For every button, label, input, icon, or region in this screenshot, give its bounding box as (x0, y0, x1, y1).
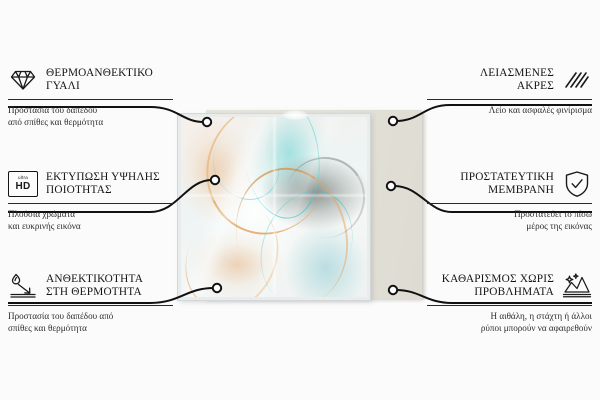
feature-heat-resistant-glass: ΘΕΡΜΟΑΝΘΕΚΤΙΚΟ ΓΥΑΛΙ Προστασία του δαπέδ… (8, 64, 194, 128)
feature-description: Προστατεύει το πίσω μέρος της εικόνας (406, 209, 592, 232)
feature-description: Πλούσια χρώματα και ευκρινής εικόνα (8, 209, 194, 232)
marble-artwork (181, 117, 367, 297)
glass-highlight (282, 110, 308, 120)
feature-title: ΚΑΘΑΡΙΣΜΟΣ ΧΩΡΙΣ ΠΡΟΒΛΗΜΑΤΑ (442, 273, 554, 300)
feature-divider (427, 305, 592, 306)
product-image (178, 110, 422, 302)
feature-protective-membrane: ΠΡΟΣΤΑΤΕΥΤΙΚΗ ΜΕΜΒΡΑΝΗ Προστατεύει το πί… (406, 168, 592, 232)
feature-header: ultra HD ΕΚΤΥΠΩΣΗ ΥΨΗΛΗΣ ΠΟΙΟΤΗΤΑΣ (8, 168, 194, 200)
feature-description: Η αιθάλη, η στάχτη ή άλλοι ρύποι μπορούν… (406, 311, 592, 334)
feature-polished-edges: ΛΕΙΑΣΜΕΝΕΣ ΑΚΡΕΣ Λείο και ασφαλές φινίρι… (406, 64, 592, 117)
feature-description: Προστασία του δαπέδου από σπίθες και θερ… (8, 311, 194, 334)
flame-deflect-icon (8, 271, 38, 301)
glass-sheen (181, 117, 367, 297)
feature-divider (8, 305, 173, 306)
hd-badge-hd-label: HD (15, 182, 30, 192)
feature-header: ΑΝΘΕΚΤΙΚΟΤΗΤΑ ΣΤΗ ΘΕΡΜΟΤΗΤΑ (8, 270, 194, 302)
feature-divider (427, 203, 592, 204)
feature-high-quality-print: ultra HD ΕΚΤΥΠΩΣΗ ΥΨΗΛΗΣ ΠΟΙΟΤΗΤΑΣ Πλούσ… (8, 168, 194, 232)
feature-title: ΕΚΤΥΠΩΣΗ ΥΨΗΛΗΣ ΠΟΙΟΤΗΤΑΣ (46, 171, 160, 198)
feature-title: ΘΕΡΜΟΑΝΘΕΚΤΙΚΟ ΓΥΑΛΙ (46, 67, 153, 94)
feature-title: ΑΝΘΕΚΤΙΚΟΤΗΤΑ ΣΤΗ ΘΕΡΜΟΤΗΤΑ (46, 273, 143, 300)
sparkle-wipe-icon (562, 271, 592, 301)
product-feature-infographic: ΘΕΡΜΟΑΝΘΕΚΤΙΚΟ ΓΥΑΛΙ Προστασία του δαπέδ… (0, 0, 600, 400)
feature-description: Προστασία του δαπέδου από σπίθες και θερ… (8, 105, 194, 128)
feature-header: ΠΡΟΣΤΑΤΕΥΤΙΚΗ ΜΕΜΒΡΑΝΗ (406, 168, 592, 200)
shield-check-icon (562, 169, 592, 199)
feature-divider (427, 99, 592, 100)
feature-description: Λείο και ασφαλές φινίρισμα (406, 105, 592, 117)
feature-divider (8, 99, 173, 100)
feature-title: ΛΕΙΑΣΜΕΝΕΣ ΑΚΡΕΣ (480, 67, 554, 94)
feature-divider (8, 203, 173, 204)
feature-trouble-free-cleaning: ΚΑΘΑΡΙΣΜΟΣ ΧΩΡΙΣ ΠΡΟΒΛΗΜΑΤΑ Η αιθάλη, η … (406, 270, 592, 334)
diagonal-lines-icon (562, 65, 592, 95)
feature-header: ΚΑΘΑΡΙΣΜΟΣ ΧΩΡΙΣ ΠΡΟΒΛΗΜΑΤΑ (406, 270, 592, 302)
glass-panel (178, 114, 370, 300)
diamond-icon (8, 65, 38, 95)
feature-header: ΘΕΡΜΟΑΝΘΕΚΤΙΚΟ ΓΥΑΛΙ (8, 64, 194, 96)
feature-header: ΛΕΙΑΣΜΕΝΕΣ ΑΚΡΕΣ (406, 64, 592, 96)
feature-heat-durability: ΑΝΘΕΚΤΙΚΟΤΗΤΑ ΣΤΗ ΘΕΡΜΟΤΗΤΑ Προστασία το… (8, 270, 194, 334)
hd-badge: ultra HD (8, 171, 38, 197)
ultra-hd-badge-icon: ultra HD (8, 169, 38, 199)
feature-title: ΠΡΟΣΤΑΤΕΥΤΙΚΗ ΜΕΜΒΡΑΝΗ (460, 171, 554, 198)
